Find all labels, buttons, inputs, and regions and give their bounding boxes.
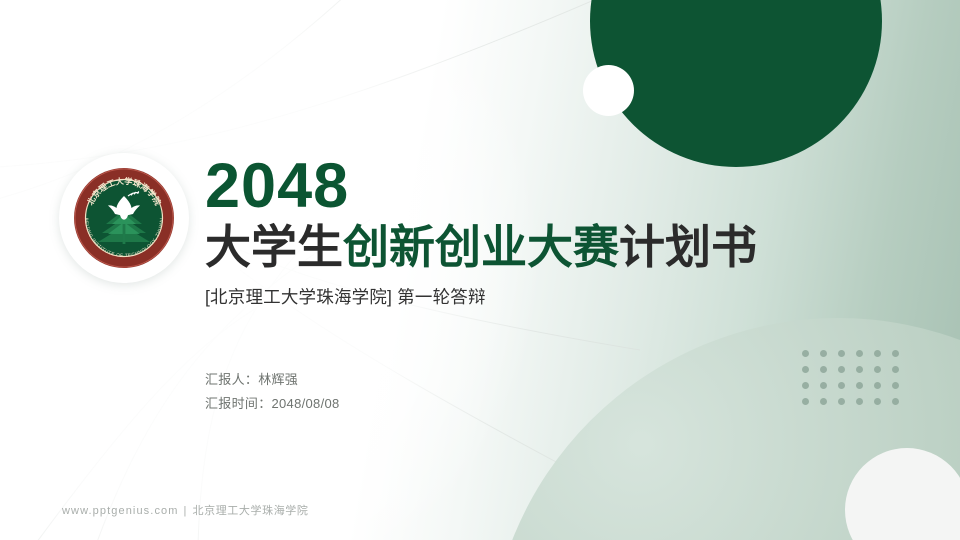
presentation-date: 汇报时间：2048/08/08 — [205, 392, 340, 416]
subtitle: [北京理工大学珠海学院] 第一轮答辩 — [205, 284, 905, 309]
presenter-name: 汇报人：林辉强 — [205, 368, 340, 392]
year-heading: 2048 — [205, 155, 905, 218]
footer-separator: | — [184, 505, 188, 517]
decor-circle-white-small — [583, 65, 634, 116]
footer-organization: 北京理工大学珠海学院 — [193, 505, 309, 517]
presenter-meta: 汇报人：林辉强 汇报时间：2048/08/08 — [205, 368, 340, 416]
footer-website[interactable]: www.pptgenius.com — [62, 505, 179, 517]
decor-dot-grid — [802, 350, 910, 414]
slide-canvas: 北京理工大学珠海学院 BEIJING INSTITUTE OF TECHNOLO… — [0, 0, 960, 540]
footer: www.pptgenius.com|北京理工大学珠海学院 — [62, 502, 309, 518]
logo-emblem-icon: 北京理工大学珠海学院 BEIJING INSTITUTE OF TECHNOLO… — [72, 166, 176, 270]
university-logo: 北京理工大学珠海学院 BEIJING INSTITUTE OF TECHNOLO… — [72, 166, 176, 270]
title-block: 2048 大学生创新创业大赛计划书 [北京理工大学珠海学院] 第一轮答辩 — [205, 155, 905, 309]
headline-part-2: 创新创业大赛 — [343, 221, 619, 273]
headline-part-1: 大学生 — [205, 221, 343, 273]
headline-part-3: 计划书 — [619, 221, 757, 273]
main-headline: 大学生创新创业大赛计划书 — [205, 222, 905, 274]
